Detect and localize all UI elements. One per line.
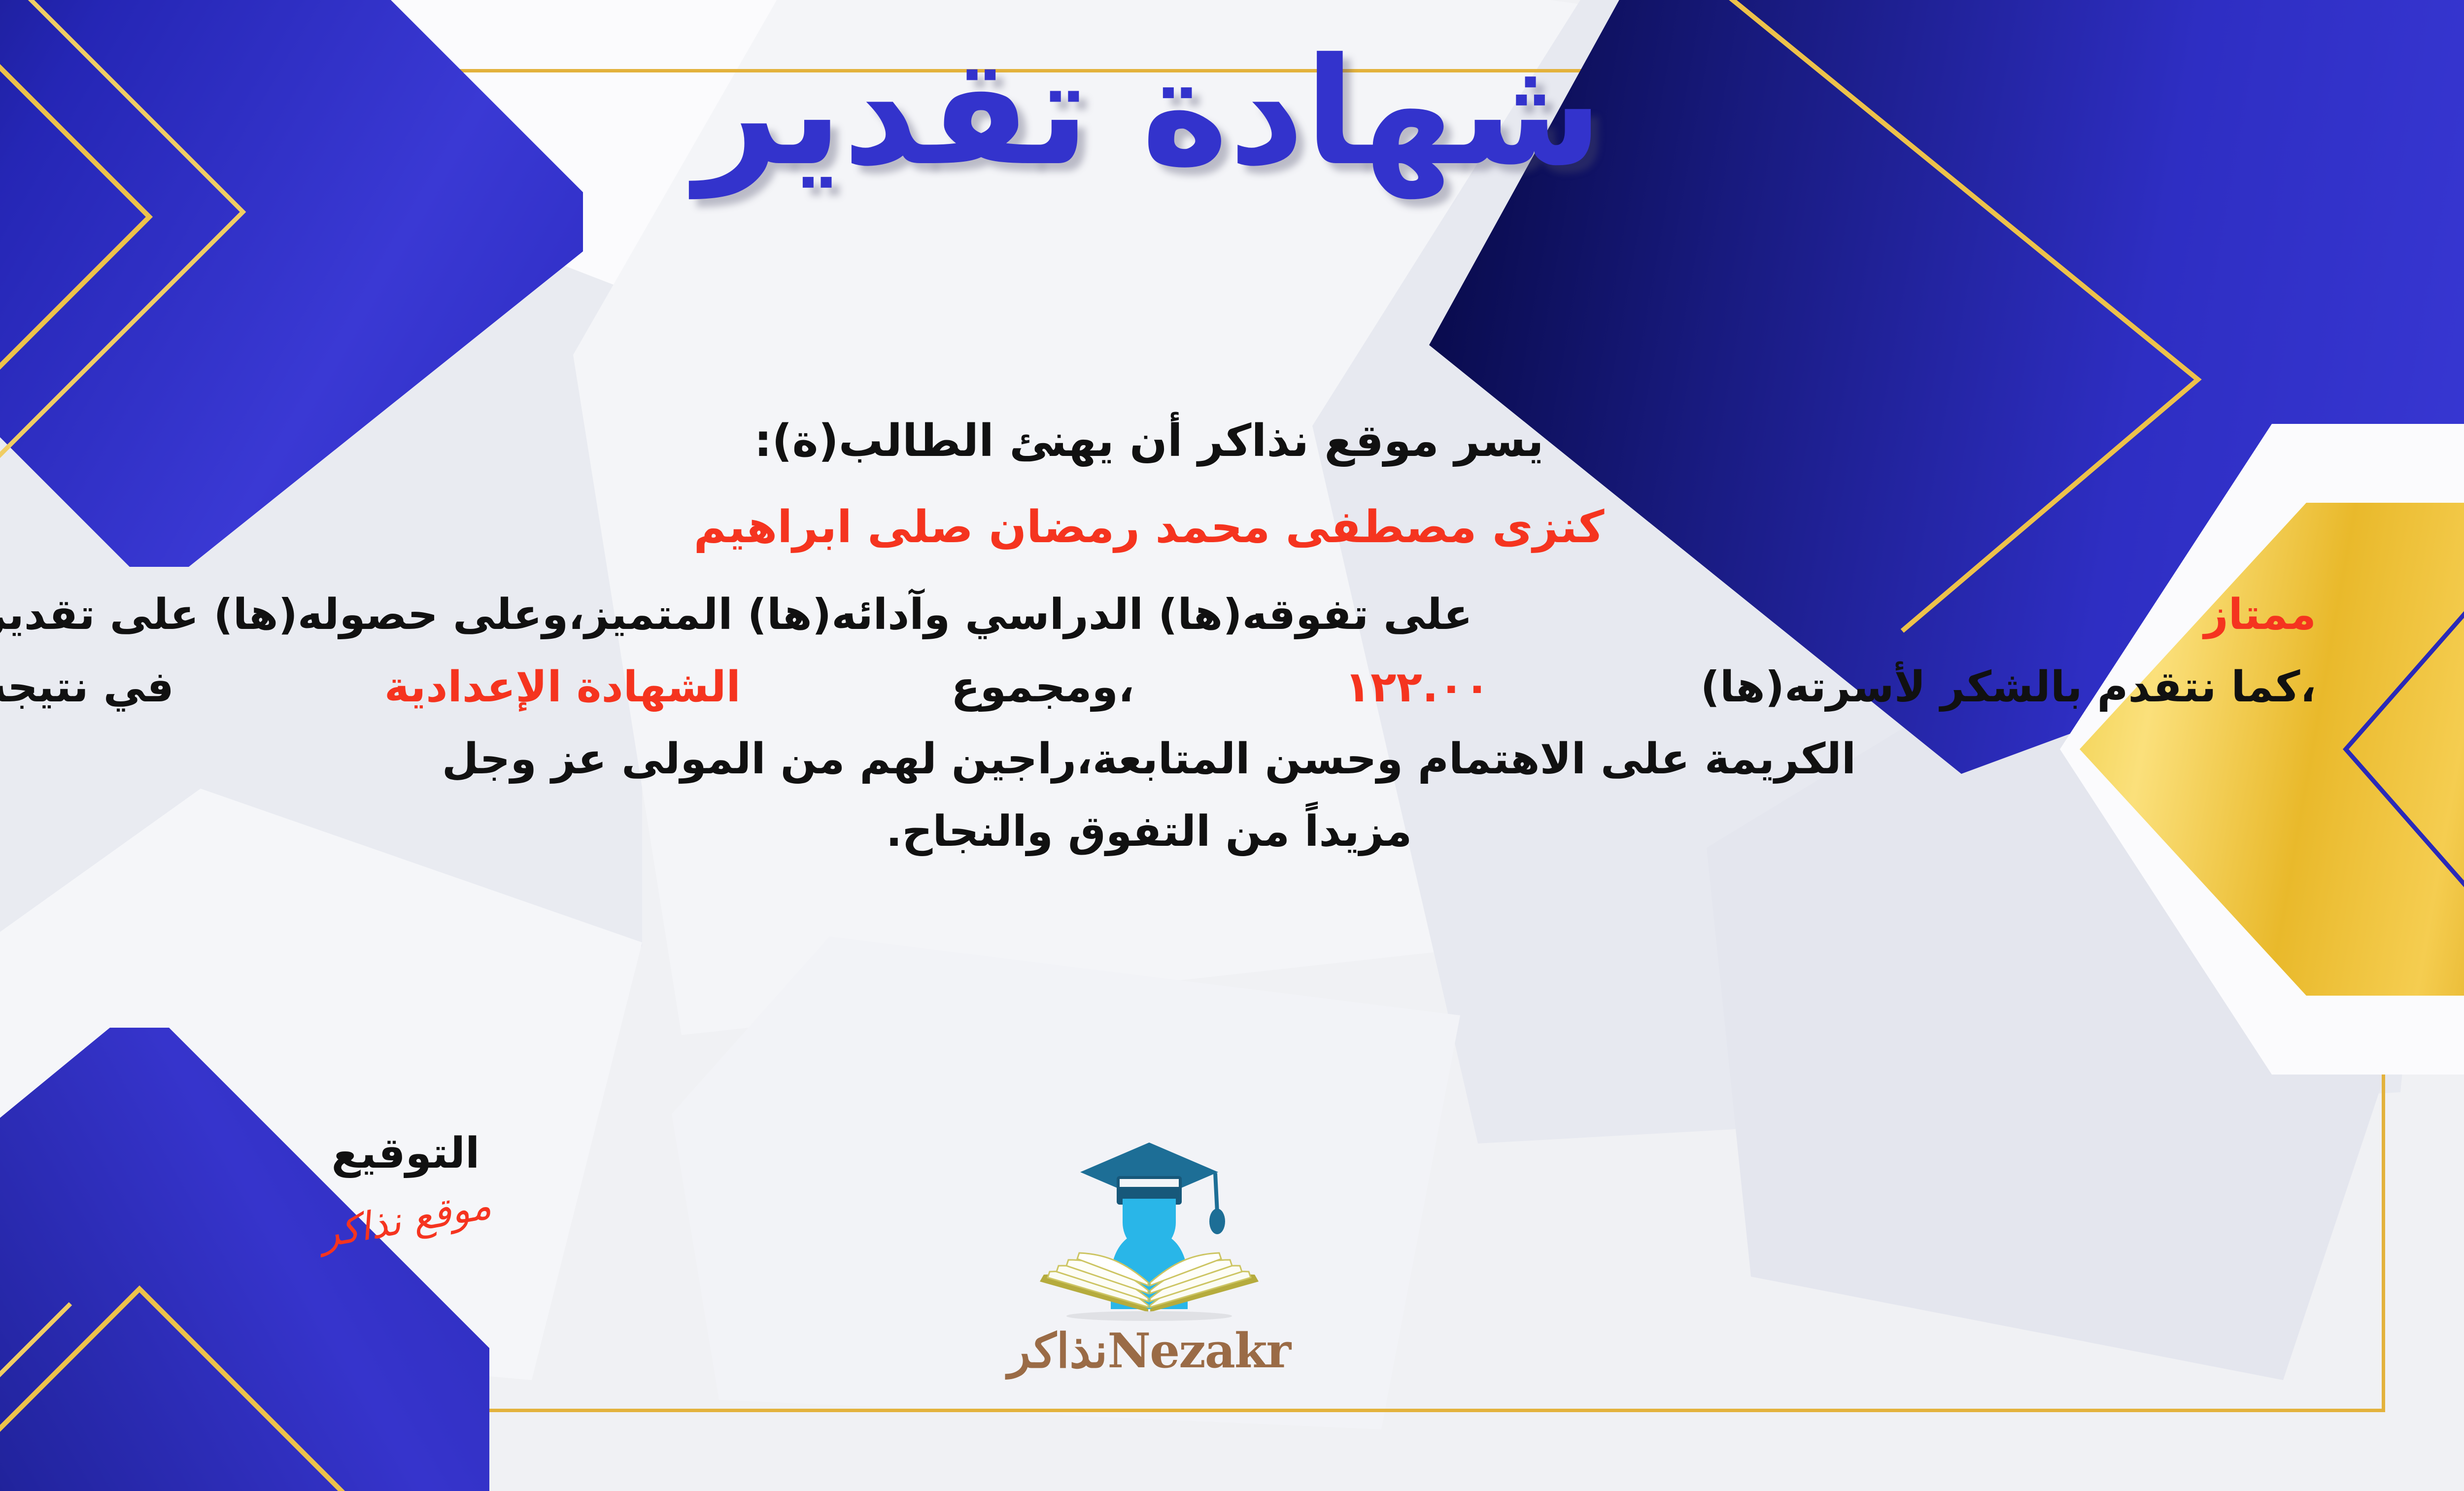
result-prefix: في نتيجة: [0, 657, 174, 718]
achievement-text: على تفوقه(ها) الدراسي وآدائه(ها) المتميز…: [0, 584, 1472, 646]
result-mid: ،ومجموع: [951, 657, 1134, 718]
graduate-book-icon: [1011, 1134, 1287, 1321]
achievement-line: ممتاز على تفوقه(ها) الدراسي وآدائه(ها) ا…: [0, 584, 2316, 646]
certificate-content: شهادة تقدير يسر موقع نذاكر أن يهنئ الطال…: [0, 0, 2464, 1491]
grade-value: ممتاز: [2204, 584, 2316, 646]
certificate-body: يسر موقع نذاكر أن يهنئ الطالب(ة): كنزى م…: [0, 409, 2316, 873]
thanks-line: الكريمة على الاهتمام وحسن المتابعة،راجين…: [0, 728, 2316, 790]
certificate-canvas: شهادة تقدير يسر موقع نذاكر أن يهنئ الطال…: [0, 0, 2464, 1491]
exam-name: الشهادة الإعدادية: [384, 657, 741, 718]
signature-mark: موقع نذاكر: [317, 1183, 494, 1256]
signature-label: التوقيع: [233, 1129, 578, 1178]
logo-wordmark: Nezakrنذاكر: [962, 1323, 1336, 1379]
nezakr-logo: Nezakrنذاكر: [962, 1134, 1336, 1379]
wishes-line: مزيداً من التفوق والنجاح.: [0, 801, 2316, 863]
total-score: ١٢٢.٠٠: [1345, 657, 1490, 718]
signature-block: التوقيع موقع نذاكر: [233, 1129, 578, 1242]
result-suffix: ،كما نتقدم بالشكر لأسرته(ها): [1701, 657, 2316, 718]
certificate-title: شهادة تقدير: [0, 35, 2464, 190]
result-line: ،كما نتقدم بالشكر لأسرته(ها) ١٢٢.٠٠ ،ومج…: [0, 657, 2316, 718]
student-name: كنزى مصطفى محمد رمضان صلى ابراهيم: [0, 495, 2316, 560]
intro-line: يسر موقع نذاكر أن يهنئ الطالب(ة):: [0, 409, 2316, 474]
